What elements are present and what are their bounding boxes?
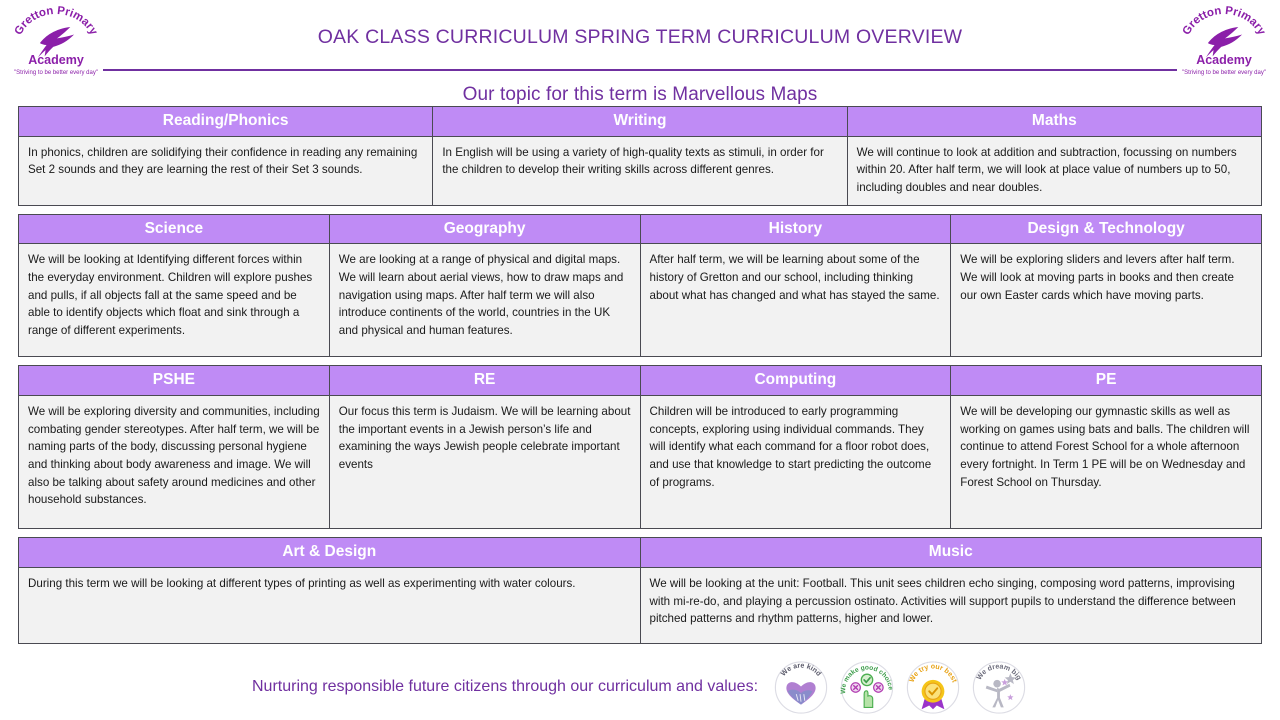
gretton-primary-academy-logo-icon: Gretton Primary Academy "Striving to be …: [1176, 2, 1272, 78]
we-make-good-choices-badge-icon: We make good choices: [838, 660, 896, 715]
subject-title: PSHE: [19, 366, 329, 396]
subject-title: History: [641, 215, 951, 245]
subject-description: In phonics, children are solidifying the…: [19, 137, 432, 205]
subject-table-row-2: Science We will be looking at Identifyin…: [18, 214, 1262, 358]
subject-column-maths: Maths We will continue to look at additi…: [848, 107, 1261, 205]
school-logo-left: Gretton Primary Academy "Striving to be …: [8, 2, 104, 78]
gretton-primary-academy-logo-icon: Gretton Primary Academy "Striving to be …: [8, 2, 104, 78]
header-divider: [103, 69, 1177, 71]
subject-description: We will be exploring sliders and levers …: [951, 244, 1261, 356]
svg-text:"Striving to be better every d: "Striving to be better every day": [14, 70, 98, 76]
page-footer: Nurturing responsible future citizens th…: [0, 658, 1280, 716]
we-try-our-best-badge-icon: We try our best: [904, 660, 962, 715]
subject-column-geography: Geography We are looking at a range of p…: [330, 215, 641, 357]
subject-column-computing: Computing Children will be introduced to…: [641, 366, 952, 528]
svg-text:"Striving to be better every d: "Striving to be better every day": [1182, 70, 1266, 76]
subject-table-row-1: Reading/Phonics In phonics, children are…: [18, 106, 1262, 206]
school-logo-right: Gretton Primary Academy "Striving to be …: [1176, 2, 1272, 78]
page-title: OAK CLASS CURRICULUM SPRING TERM CURRICU…: [110, 26, 1170, 49]
subject-description: We will be looking at Identifying differ…: [19, 244, 329, 356]
subject-table-row-3: PSHE We will be exploring diversity and …: [18, 365, 1262, 529]
subject-column-pshe: PSHE We will be exploring diversity and …: [19, 366, 330, 528]
subject-title: PE: [951, 366, 1261, 396]
we-dream-big-badge-icon: We dream big: [970, 660, 1028, 715]
subject-title: Art & Design: [19, 538, 640, 568]
subject-table-row-4: Art & Design During this term we will be…: [18, 537, 1262, 644]
subject-title: Writing: [433, 107, 846, 137]
subject-column-reading-phonics: Reading/Phonics In phonics, children are…: [19, 107, 433, 205]
svg-text:Academy: Academy: [28, 53, 84, 67]
subject-column-art-design: Art & Design During this term we will be…: [19, 538, 641, 643]
subject-column-science: Science We will be looking at Identifyin…: [19, 215, 330, 357]
subject-description: We will be looking at the unit: Football…: [641, 568, 1262, 643]
subject-title: Design & Technology: [951, 215, 1261, 245]
subject-title: Music: [641, 538, 1262, 568]
subject-column-writing: Writing In English will be using a varie…: [433, 107, 847, 205]
subject-title: Science: [19, 215, 329, 245]
subject-description: We will be developing our gymnastic skil…: [951, 396, 1261, 528]
subject-description: After half term, we will be learning abo…: [641, 244, 951, 356]
page-header: Gretton Primary Academy "Striving to be …: [0, 0, 1280, 78]
topic-subtitle: Our topic for this term is Marvellous Ma…: [0, 84, 1280, 106]
subject-description: We will continue to look at addition and…: [848, 137, 1261, 205]
subject-column-design-technology: Design & Technology We will be exploring…: [951, 215, 1261, 357]
subject-title: Maths: [848, 107, 1261, 137]
subject-column-music: Music We will be looking at the unit: Fo…: [641, 538, 1262, 643]
values-statement: Nurturing responsible future citizens th…: [252, 678, 758, 696]
values-badges: We are kind We make good choices: [772, 660, 1028, 715]
svg-text:Academy: Academy: [1196, 53, 1252, 67]
subject-description: During this term we will be looking at d…: [19, 568, 640, 643]
subject-description: In English will be using a variety of hi…: [433, 137, 846, 205]
subject-description: Our focus this term is Judaism. We will …: [330, 396, 640, 528]
subject-column-pe: PE We will be developing our gymnastic s…: [951, 366, 1261, 528]
subject-description: Children will be introduced to early pro…: [641, 396, 951, 528]
subject-column-re: RE Our focus this term is Judaism. We wi…: [330, 366, 641, 528]
subject-column-history: History After half term, we will be lear…: [641, 215, 952, 357]
subject-description: We are looking at a range of physical an…: [330, 244, 640, 356]
subject-title: Reading/Phonics: [19, 107, 432, 137]
subject-description: We will be exploring diversity and commu…: [19, 396, 329, 528]
subject-title: RE: [330, 366, 640, 396]
subject-title: Computing: [641, 366, 951, 396]
we-are-kind-badge-icon: We are kind: [772, 660, 830, 715]
subject-title: Geography: [330, 215, 640, 245]
